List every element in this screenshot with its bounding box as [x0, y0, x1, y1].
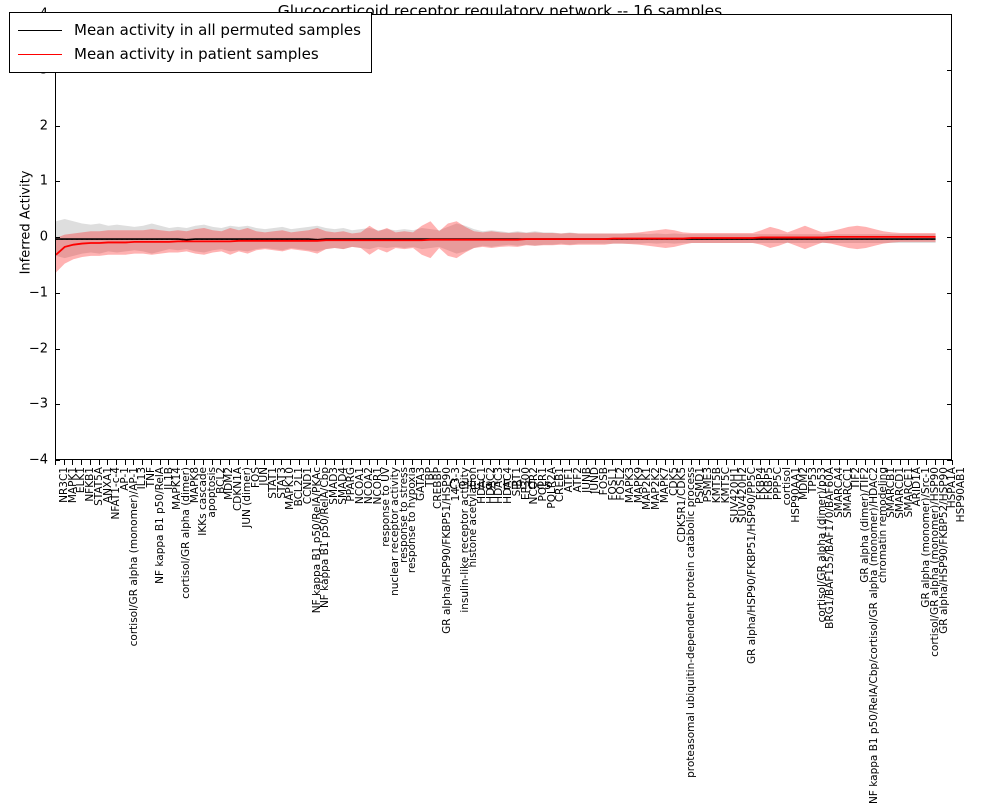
plot-canvas [56, 15, 951, 459]
y-tick-label: −3 [0, 397, 55, 412]
y-tick-mark [947, 70, 952, 71]
x-tick-mark [586, 460, 587, 465]
x-tick-mark [569, 460, 570, 465]
y-tick-mark [55, 293, 60, 294]
x-tick-mark [447, 460, 448, 465]
y-tick-label: −1 [0, 285, 55, 300]
x-tick-label: NFAT1-c-4 [111, 467, 122, 519]
x-tick-mark [891, 460, 892, 465]
x-tick-mark [177, 460, 178, 465]
x-tick-mark [882, 460, 883, 465]
x-tick-mark [360, 460, 361, 465]
x-tick-label: NF kappa B1 p50/RelA/Cbp/cortisol/GR alp… [869, 467, 880, 804]
y-tick-mark [55, 181, 60, 182]
x-tick-label: SUV420H1 [730, 467, 741, 523]
x-tick-mark [508, 460, 509, 465]
x-tick-mark [926, 460, 927, 465]
x-tick-mark [638, 460, 639, 465]
x-tick-mark [81, 460, 82, 465]
y-tick-label: −4 [0, 453, 55, 468]
y-tick-label: 0 [0, 230, 55, 245]
x-tick-label: HSP90AB1 [956, 467, 967, 522]
x-tick-mark [551, 460, 552, 465]
x-tick-mark [334, 460, 335, 465]
x-tick-mark [168, 460, 169, 465]
x-tick-mark [482, 460, 483, 465]
y-tick-label: 2 [0, 118, 55, 133]
x-tick-mark [595, 460, 596, 465]
y-tick-label: −2 [0, 341, 55, 356]
x-tick-mark [325, 460, 326, 465]
x-tick-mark [160, 460, 161, 465]
x-tick-mark [377, 460, 378, 465]
x-tick-mark [142, 460, 143, 465]
x-tick-mark [220, 460, 221, 465]
x-tick-mark [490, 460, 491, 465]
x-tick-mark [99, 460, 100, 465]
x-tick-mark [116, 460, 117, 465]
y-tick-mark [55, 349, 60, 350]
x-tick-mark [847, 460, 848, 465]
y-tick-label: 1 [0, 174, 55, 189]
x-tick-label: GR alpha/HSP90/FKBP51/HSP90/PP5C [747, 467, 758, 664]
x-tick-mark [316, 460, 317, 465]
x-tick-mark [795, 460, 796, 465]
x-tick-label: HSP90AA1 [791, 467, 802, 523]
x-tick-mark [656, 460, 657, 465]
x-tick-mark [752, 460, 753, 465]
y-tick-mark [55, 460, 60, 461]
chart-legend: Mean activity in all permuted samples Me… [9, 12, 372, 73]
y-tick-mark [947, 237, 952, 238]
x-tick-mark [133, 460, 134, 465]
x-tick-label: proteasomal ubiquitin-dependent protein … [686, 467, 697, 778]
y-tick-mark [947, 126, 952, 127]
x-tick-mark [839, 460, 840, 465]
x-tick-mark [525, 460, 526, 465]
x-tick-mark [517, 460, 518, 465]
x-tick-mark [813, 460, 814, 465]
x-tick-mark [778, 460, 779, 465]
x-tick-mark [229, 460, 230, 465]
y-tick-mark [947, 349, 952, 350]
plot-area [55, 14, 952, 460]
x-tick-mark [908, 460, 909, 465]
x-tick-mark [412, 460, 413, 465]
x-tick-mark [386, 460, 387, 465]
x-tick-mark [647, 460, 648, 465]
x-tick-label: SUV420H2 [738, 467, 749, 523]
y-axis-label: Inferred Activity [19, 143, 34, 303]
x-tick-mark [456, 460, 457, 465]
x-tick-mark [438, 460, 439, 465]
x-tick-mark [604, 460, 605, 465]
x-tick-mark [429, 460, 430, 465]
x-tick-mark [299, 460, 300, 465]
x-tick-mark [264, 460, 265, 465]
x-tick-mark [621, 460, 622, 465]
x-axis-label: Cellular Entities [0, 478, 1000, 493]
x-tick-mark [708, 460, 709, 465]
series-canvas [56, 15, 951, 459]
x-tick-mark [717, 460, 718, 465]
x-tick-mark [72, 460, 73, 465]
y-tick-mark [55, 126, 60, 127]
x-tick-mark [612, 460, 613, 465]
x-tick-mark [421, 460, 422, 465]
y-tick-mark [947, 460, 952, 461]
legend-item: Mean activity in all permuted samples [18, 18, 361, 42]
x-tick-mark [943, 460, 944, 465]
x-tick-mark [186, 460, 187, 465]
x-tick-mark [682, 460, 683, 465]
x-tick-mark [665, 460, 666, 465]
x-tick-mark [830, 460, 831, 465]
x-tick-mark [743, 460, 744, 465]
legend-label-permuted: Mean activity in all permuted samples [74, 23, 361, 38]
x-tick-mark [473, 460, 474, 465]
x-tick-mark [290, 460, 291, 465]
legend-item: Mean activity in patient samples [18, 42, 361, 66]
x-tick-mark [699, 460, 700, 465]
y-tick-mark [55, 404, 60, 405]
y-tick-mark [55, 237, 60, 238]
y-tick-mark [947, 181, 952, 182]
chart-figure: Glucocorticoid receptor regulatory netwo… [0, 0, 1000, 500]
x-tick-mark [351, 460, 352, 465]
x-tick-mark [125, 460, 126, 465]
y-tick-mark [947, 14, 952, 15]
x-tick-mark [578, 460, 579, 465]
x-tick-mark [630, 460, 631, 465]
x-tick-mark [403, 460, 404, 465]
x-tick-mark [395, 460, 396, 465]
x-tick-mark [369, 460, 370, 465]
x-tick-mark [935, 460, 936, 465]
x-tick-mark [691, 460, 692, 465]
x-tick-label: cortisol/GR alpha (monomer)/HSP90 [930, 467, 941, 657]
x-tick-mark [212, 460, 213, 465]
x-tick-mark [238, 460, 239, 465]
x-tick-mark [734, 460, 735, 465]
x-tick-mark [247, 460, 248, 465]
x-tick-mark [281, 460, 282, 465]
x-tick-mark [464, 460, 465, 465]
x-tick-mark [787, 460, 788, 465]
x-tick-mark [90, 460, 91, 465]
y-tick-mark [947, 293, 952, 294]
x-tick-label: cortisol/GR alpha (monomer)/AP-1 [129, 467, 140, 646]
x-tick-mark [900, 460, 901, 465]
x-tick-mark [917, 460, 918, 465]
x-tick-mark [673, 460, 674, 465]
x-tick-mark [194, 460, 195, 465]
x-tick-mark [308, 460, 309, 465]
x-tick-mark [534, 460, 535, 465]
x-tick-mark [107, 460, 108, 465]
x-tick-mark [952, 460, 953, 465]
x-tick-mark [865, 460, 866, 465]
x-tick-mark [499, 460, 500, 465]
x-tick-mark [255, 460, 256, 465]
x-tick-mark [760, 460, 761, 465]
x-tick-mark [821, 460, 822, 465]
legend-label-patient: Mean activity in patient samples [74, 47, 319, 62]
x-tick-mark [543, 460, 544, 465]
x-tick-mark [560, 460, 561, 465]
x-tick-mark [856, 460, 857, 465]
x-tick-mark [804, 460, 805, 465]
x-tick-mark [151, 460, 152, 465]
x-tick-mark [342, 460, 343, 465]
x-tick-mark [874, 460, 875, 465]
x-tick-mark [273, 460, 274, 465]
x-tick-mark [726, 460, 727, 465]
x-tick-mark [203, 460, 204, 465]
x-tick-mark [769, 460, 770, 465]
y-tick-mark [947, 404, 952, 405]
x-tick-label: JUN (dimer) [242, 467, 253, 528]
legend-swatch-patient [18, 54, 62, 55]
legend-swatch-permuted [18, 30, 62, 31]
x-tick-mark [64, 460, 65, 465]
